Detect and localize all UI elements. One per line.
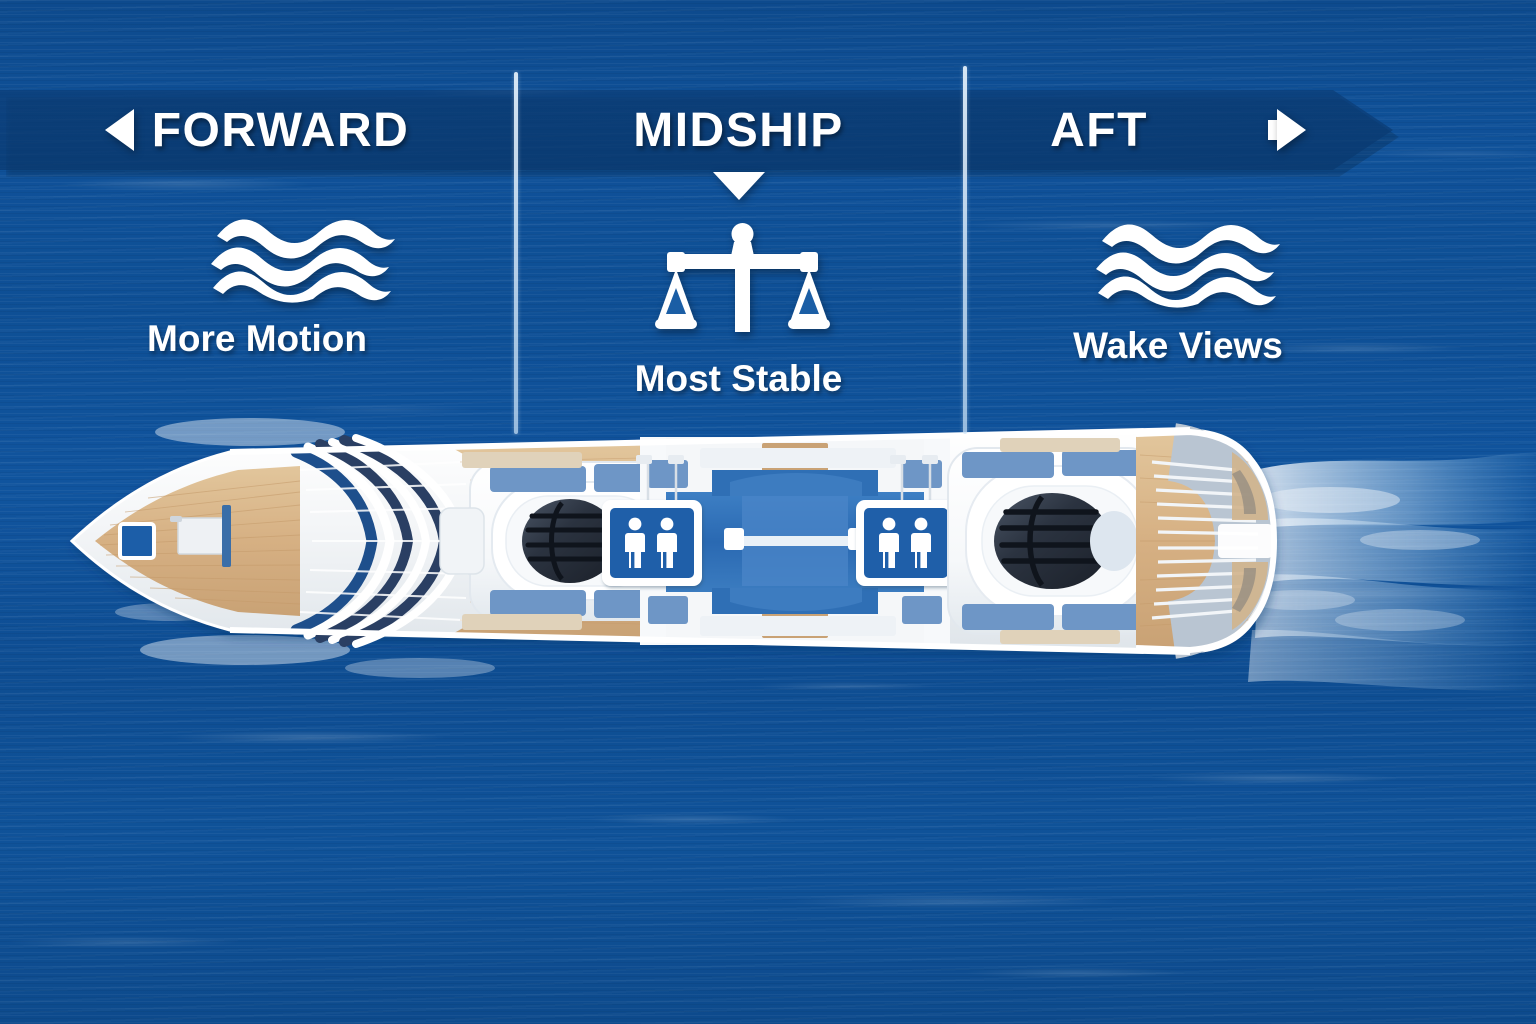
- arrow-right-icon: [1277, 109, 1306, 151]
- caret-down-icon: [713, 172, 765, 200]
- zone-subtitle-aft-text: Wake Views: [1073, 325, 1283, 366]
- waves-icon-forward: [205, 210, 405, 305]
- zone-header-aft: AFT: [963, 98, 1393, 162]
- balance-scale-icon: [655, 222, 830, 332]
- bow-deck: [95, 466, 300, 616]
- ship-wake: [1245, 452, 1536, 691]
- two-people-icon: [864, 508, 948, 578]
- arrow-left-icon: [105, 109, 134, 151]
- infographic-canvas: FORWARD More Motion MIDSHIP Most Stable …: [0, 0, 1536, 1024]
- waves-icon-aft: [1090, 215, 1290, 310]
- bow-hatch: [120, 524, 154, 558]
- zone-subtitle-forward: More Motion: [0, 318, 514, 360]
- two-people-icon: [610, 508, 694, 578]
- zone-subtitle-midship: Most Stable: [514, 358, 963, 400]
- zone-subtitle-midship-text: Most Stable: [635, 358, 843, 399]
- zone-subtitle-forward-text: More Motion: [147, 318, 367, 359]
- zone-subtitle-aft: Wake Views: [963, 325, 1393, 367]
- zone-title-midship: MIDSHIP: [633, 103, 844, 158]
- zone-header-forward: FORWARD: [0, 98, 514, 162]
- stern-terraces: [1136, 432, 1274, 650]
- forward-lounge-panel: [490, 466, 586, 492]
- zone-title-forward: FORWARD: [152, 103, 410, 158]
- zone-header-midship: MIDSHIP: [514, 98, 963, 162]
- zone-title-aft: AFT: [1050, 103, 1148, 158]
